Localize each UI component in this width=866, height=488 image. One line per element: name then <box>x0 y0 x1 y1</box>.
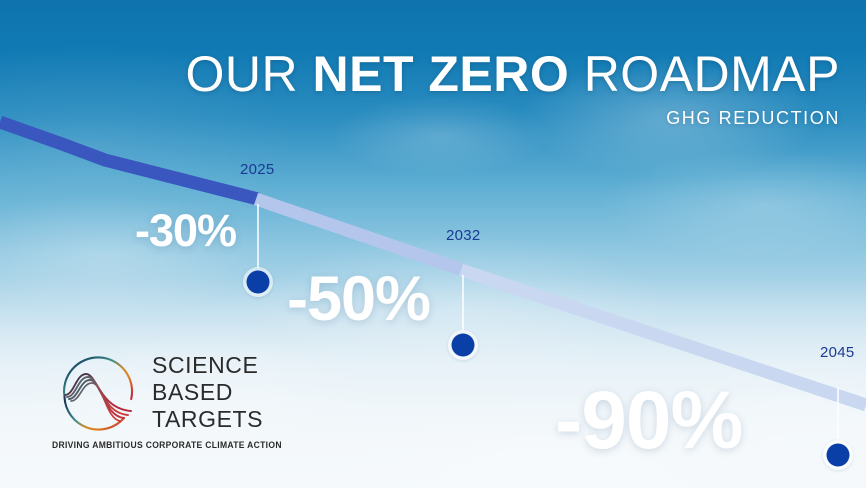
milestone-node-2032[interactable] <box>452 334 475 357</box>
sbt-mark-icon <box>52 345 144 437</box>
reduction-label-2045: -90% <box>555 374 742 468</box>
reduction-label-2025: -30% <box>135 205 236 257</box>
sbt-word-line-1: SCIENCE <box>152 352 263 379</box>
poster-canvas: OUR NET ZERO ROADMAP GHG REDUCTION 2025 … <box>0 0 866 488</box>
year-label-2045: 2045 <box>820 344 855 361</box>
reduction-label-2032: -50% <box>287 263 430 335</box>
trend-segment-baseline <box>0 122 258 199</box>
sbt-word-line-2: BASED <box>152 379 263 406</box>
milestone-node-2025[interactable] <box>247 271 270 294</box>
milestone-node-2045[interactable] <box>827 444 850 467</box>
sbt-wordmark: SCIENCE BASED TARGETS <box>152 352 263 433</box>
sbt-tagline: DRIVING AMBITIOUS CORPORATE CLIMATE ACTI… <box>52 440 282 451</box>
sbt-word-line-3: TARGETS <box>152 406 263 433</box>
year-label-2025: 2025 <box>240 161 275 178</box>
science-based-targets-logo: SCIENCE BASED TARGETS DRIVING AMBITIOUS … <box>52 345 274 453</box>
trend-segment-2025-2032 <box>256 199 463 270</box>
year-label-2032: 2032 <box>446 227 481 244</box>
